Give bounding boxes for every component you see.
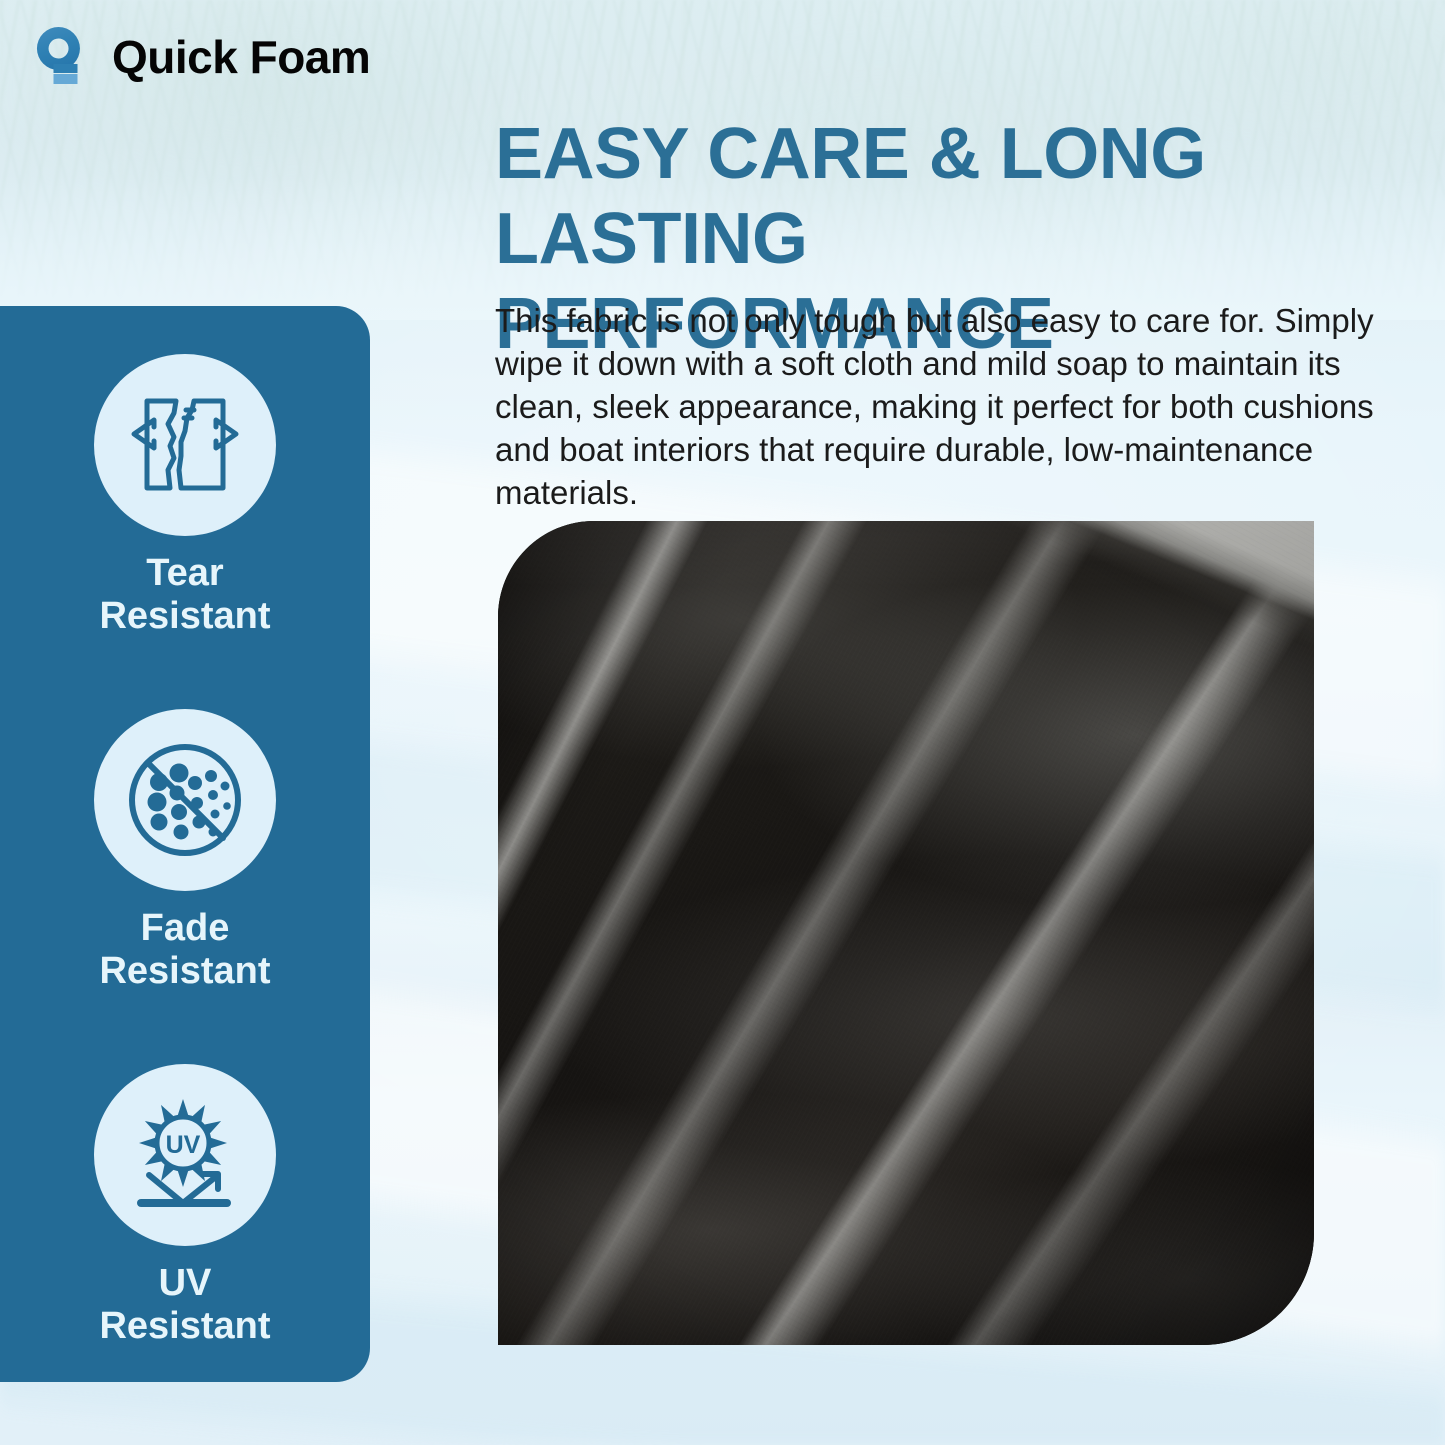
feature-item-fade-resistant: Fade Resistant — [0, 709, 370, 994]
feature-item-tear-resistant: Tear Resistant — [0, 354, 370, 639]
fade-resistant-icon-badge — [94, 709, 276, 891]
uv-resistant-icon: UV — [123, 1093, 247, 1217]
feature-label-tear-resistant: Tear Resistant — [99, 552, 270, 639]
feature-label-fade-resistant: Fade Resistant — [99, 907, 270, 994]
body-paragraph: This fabric is not only tough but also e… — [495, 300, 1391, 514]
uv-icon-label: UV — [166, 1131, 201, 1159]
promo-poster: Quick Foam EASY CARE & LONG LASTING PERF… — [0, 0, 1445, 1445]
fade-resistant-icon — [123, 738, 247, 862]
tear-resistant-icon — [124, 384, 246, 506]
uv-resistant-icon-badge: UV — [94, 1064, 276, 1246]
feature-label-uv-resistant: UV Resistant — [99, 1262, 270, 1349]
feature-item-uv-resistant: UV UV Resistant — [0, 1064, 370, 1349]
tear-resistant-icon-badge — [94, 354, 276, 536]
product-photo — [498, 521, 1314, 1345]
quick-foam-q-logo-icon — [34, 24, 96, 90]
brand-logo[interactable]: Quick Foam — [34, 24, 370, 90]
product-photo-edge-shading — [498, 521, 1314, 1345]
brand-wordmark: Quick Foam — [112, 34, 370, 80]
feature-sidebar: Tear Resistant — [0, 306, 370, 1382]
